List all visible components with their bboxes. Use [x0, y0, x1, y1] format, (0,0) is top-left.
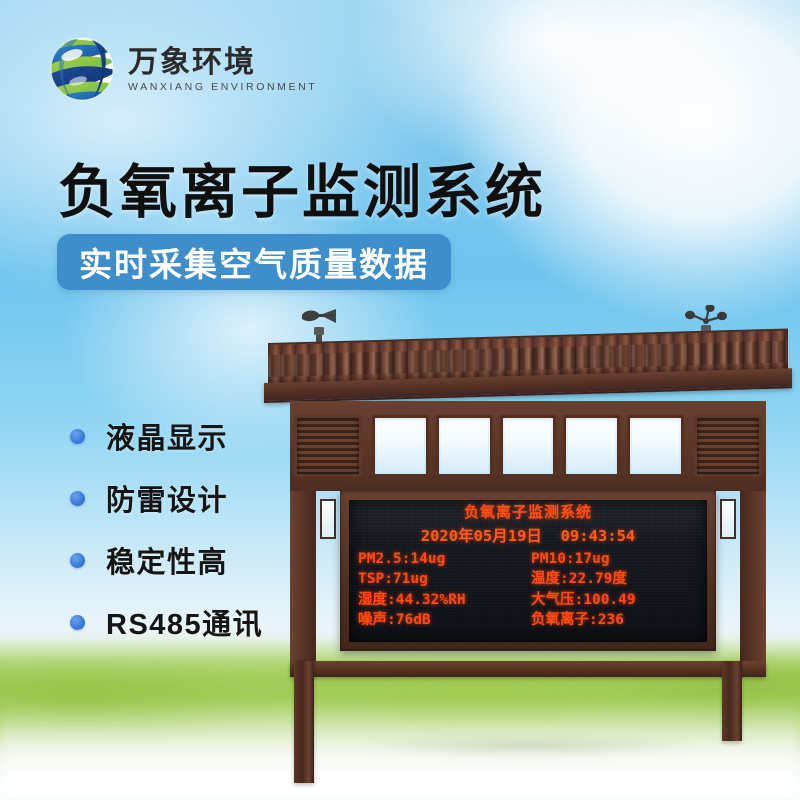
side-opening-left	[320, 499, 336, 539]
page-title: 负氧离子监测系统	[58, 145, 546, 229]
reading-noise: 噪声:76dB	[358, 611, 525, 630]
feature-label: RS485通讯	[106, 601, 263, 643]
led-screen[interactable]: 负氧离子监测系统 2020年05月19日 09:43:54 PM2.5:14ug…	[349, 500, 707, 642]
lower-rail	[290, 661, 766, 677]
window-panel	[436, 415, 493, 477]
display-board-section: 负氧离子监测系统 2020年05月19日 09:43:54 PM2.5:14ug…	[290, 491, 766, 661]
poster-scene: 万象环境 WANXIANG ENVIRONMENT 负氧离子监测系统 实时采集空…	[0, 0, 800, 800]
feature-label: 防雷设计	[106, 477, 228, 519]
window-group	[366, 415, 690, 477]
feature-label: 稳定性高	[106, 539, 228, 581]
led-date: 2020年05月19日	[421, 527, 542, 545]
led-time: 09:43:54	[561, 527, 636, 545]
reading-pm25: PM2.5:14ug	[358, 550, 525, 569]
reading-pm10: PM10:17ug	[531, 550, 698, 569]
window-panel	[372, 415, 429, 477]
frame-post-right	[740, 491, 766, 661]
side-opening-right	[720, 499, 736, 539]
louver-vent-right	[694, 415, 762, 477]
brand-logo: 万象环境 WANXIANG ENVIRONMENT	[48, 33, 318, 105]
station-ground-shadow	[288, 735, 768, 757]
led-title: 负氧离子监测系统	[358, 505, 698, 522]
reading-pressure: 大气压:100.49	[531, 591, 698, 610]
bullet-dot-icon	[70, 615, 85, 630]
monitoring-station: 负氧离子监测系统 2020年05月19日 09:43:54 PM2.5:14ug…	[268, 305, 788, 755]
led-display-frame: 负氧离子监测系统 2020年05月19日 09:43:54 PM2.5:14ug…	[340, 491, 716, 651]
reading-humidity: 湿度:44.32%RH	[358, 591, 525, 610]
bullet-dot-icon	[70, 491, 85, 506]
reading-temperature: 温度:22.79度	[531, 570, 698, 589]
subtitle-text: 实时采集空气质量数据	[79, 238, 429, 286]
window-panel	[627, 415, 684, 477]
led-screen-content: 负氧离子监测系统 2020年05月19日 09:43:54 PM2.5:14ug…	[349, 500, 707, 642]
window-panel	[563, 415, 620, 477]
louver-vent-left	[294, 415, 362, 477]
station-roof	[268, 343, 788, 405]
frame-post-left	[290, 491, 316, 661]
led-datetime: 2020年05月19日 09:43:54	[358, 524, 698, 546]
support-leg-right	[722, 661, 742, 741]
bullet-dot-icon	[70, 553, 85, 568]
window-panel	[500, 415, 557, 477]
support-leg-left	[294, 661, 314, 783]
feature-label: 液晶显示	[106, 415, 228, 457]
reading-tsp: TSP:71ug	[358, 570, 525, 589]
upper-window-band	[290, 401, 766, 491]
bullet-dot-icon	[70, 429, 85, 444]
led-readings-grid: PM2.5:14ug PM10:17ug TSP:71ug 温度:22.79度 …	[358, 550, 698, 630]
reading-negative-ions: 负氧离子:236	[531, 611, 698, 630]
brand-name-en: WANXIANG ENVIRONMENT	[128, 81, 317, 93]
brand-name-cn: 万象环境	[128, 47, 317, 79]
subtitle-banner: 实时采集空气质量数据	[57, 234, 451, 290]
globe-swirl-icon	[48, 35, 116, 103]
